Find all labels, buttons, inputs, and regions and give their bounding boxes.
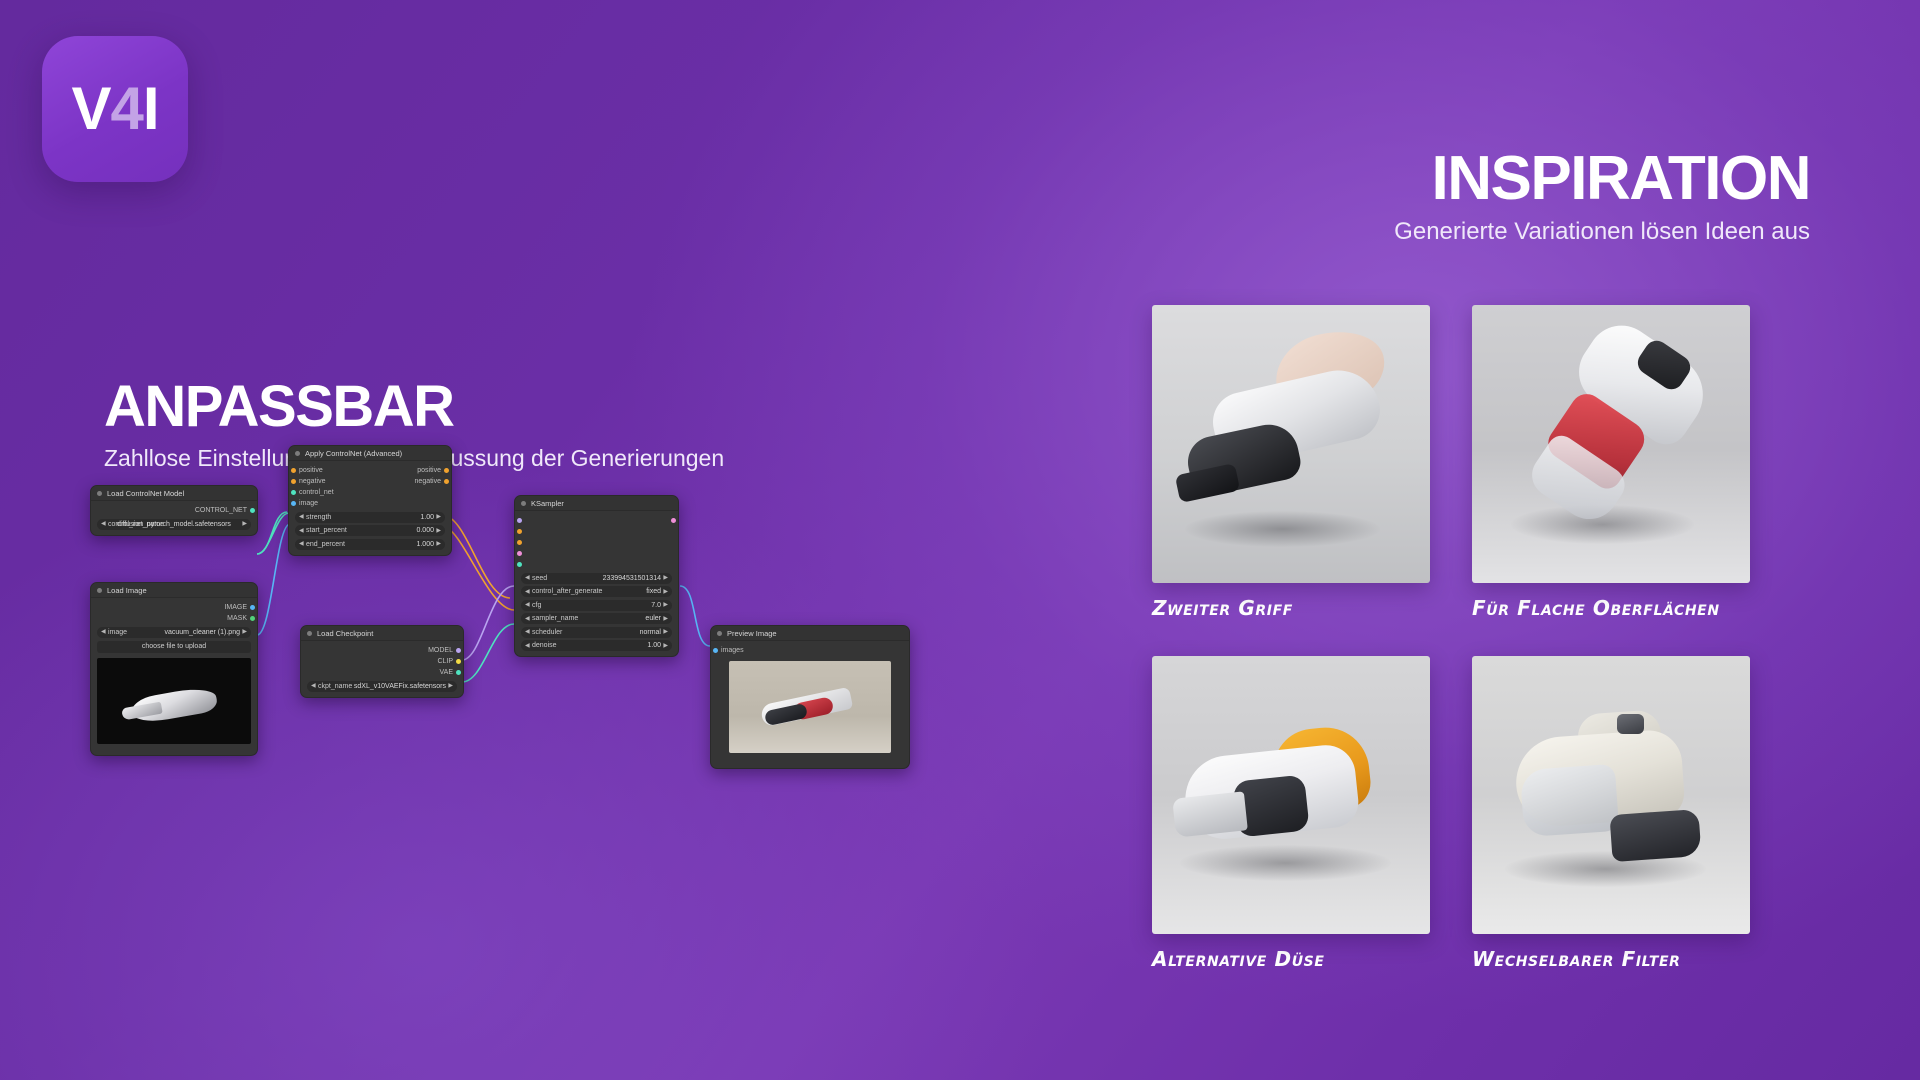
node-body: CONTROL_NET ◀ control_net_name diffusion…: [91, 501, 257, 535]
widget-value: diffusion_pytorch_model.safetensors: [97, 521, 251, 528]
output-port-control-net[interactable]: CONTROL_NET: [91, 505, 257, 516]
decrement-arrow-icon[interactable]: ◀: [311, 683, 316, 689]
port-row-negative[interactable]: negative negative: [289, 476, 451, 487]
increment-arrow-icon[interactable]: ▶: [436, 514, 441, 520]
widget-scheduler[interactable]: ◀ scheduler normal ▶: [521, 627, 672, 638]
node-title-text: Load ControlNet Model: [107, 489, 184, 498]
card-caption: Alternative Düse: [1152, 947, 1430, 971]
decrement-arrow-icon[interactable]: ◀: [525, 616, 530, 622]
widget-cfg[interactable]: ◀ cfg 7.0 ▶: [521, 600, 672, 611]
card-image-zweiter-griff[interactable]: [1152, 305, 1430, 583]
node-body: positive positive negative negative cont…: [289, 461, 451, 555]
collapse-icon[interactable]: [97, 588, 102, 593]
port-dot-icon[interactable]: [291, 468, 296, 473]
port-dot-icon[interactable]: [456, 670, 461, 675]
output-port-model[interactable]: MODEL: [301, 645, 463, 656]
photo-vacuum-knob: [1617, 714, 1645, 733]
widget-label: ckpt_name: [311, 683, 352, 690]
photo-vacuum-filter: [1609, 809, 1701, 862]
port-dot-icon[interactable]: [517, 562, 522, 567]
photo-shadow: [1180, 845, 1391, 881]
widget-end-percent[interactable]: ◀ end_percent 1.000 ▶: [295, 539, 445, 550]
decrement-arrow-icon[interactable]: ◀: [525, 602, 530, 608]
card-caption: Zweiter Griff: [1152, 596, 1430, 620]
choose-file-to-upload-button[interactable]: choose file to upload: [97, 641, 251, 653]
widget-control-net-name[interactable]: ◀ control_net_name diffusion_pytorch_mod…: [97, 519, 251, 530]
node-load-checkpoint[interactable]: Load Checkpoint MODEL CLIP VAE ◀ ckpt_na…: [300, 625, 464, 698]
inspiration-card[interactable]: Wechselbarer Filter: [1472, 656, 1750, 971]
input-port-negative[interactable]: [515, 537, 678, 548]
decrement-arrow-icon[interactable]: ◀: [101, 629, 106, 635]
decrement-arrow-icon[interactable]: ◀: [525, 643, 530, 649]
widget-denoise[interactable]: ◀ denoise 1.00 ▶: [521, 640, 672, 651]
widget-label: control_after_generate: [525, 588, 602, 595]
increment-arrow-icon[interactable]: ▶: [242, 629, 247, 635]
inspiration-subtitle: Generierte Variationen lösen Ideen aus: [1394, 218, 1810, 246]
collapse-icon[interactable]: [295, 451, 300, 456]
node-title-bar[interactable]: Load ControlNet Model: [91, 486, 257, 501]
node-body: ◀ seed 233994531501314 ▶ ◀ control_after…: [515, 511, 678, 656]
input-port-images[interactable]: images: [711, 645, 909, 656]
port-dot-icon[interactable]: [517, 540, 522, 545]
port-dot-icon[interactable]: [517, 551, 522, 556]
collapse-icon[interactable]: [97, 491, 102, 496]
port-dot-icon[interactable]: [456, 648, 461, 653]
port-dot-icon[interactable]: [291, 479, 296, 484]
input-port-image[interactable]: image: [289, 498, 451, 509]
collapse-icon[interactable]: [521, 501, 526, 506]
logo-letter-v: V: [71, 79, 110, 139]
card-caption: Wechselbarer Filter: [1472, 947, 1750, 971]
widget-control-after-generate[interactable]: ◀ control_after_generate fixed ▶: [521, 586, 672, 597]
node-graph[interactable]: Load ControlNet Model CONTROL_NET ◀ cont…: [90, 520, 1090, 940]
port-dot-icon[interactable]: [250, 508, 255, 513]
widget-sampler-name[interactable]: ◀ sampler_name euler ▶: [521, 613, 672, 624]
node-body: IMAGE MASK ◀ image vacuum_cleaner (1).pn…: [91, 598, 257, 755]
output-port-mask[interactable]: MASK: [91, 613, 257, 624]
widget-label: sampler_name: [525, 615, 578, 622]
node-title-bar[interactable]: KSampler: [515, 496, 678, 511]
port-dot-icon[interactable]: [517, 518, 522, 523]
increment-arrow-icon[interactable]: ▶: [448, 683, 453, 689]
photo-shadow: [1185, 511, 1380, 547]
widget-label: end_percent: [299, 541, 345, 548]
card-image-fuer-flache-oberflaechen[interactable]: [1472, 305, 1750, 583]
widget-value: vacuum_cleaner (1).png: [165, 629, 248, 636]
node-title-text: Preview Image: [727, 629, 777, 638]
widget-value: sdXL_v10VAEFix.safetensors: [354, 683, 453, 690]
input-port-control-net[interactable]: control_net: [289, 487, 451, 498]
logo-wordmark: V4I: [71, 79, 158, 139]
photo-vacuum-dustbin: [1520, 764, 1619, 837]
node-title-bar[interactable]: Apply ControlNet (Advanced): [289, 446, 451, 461]
port-dot-icon[interactable]: [291, 501, 296, 506]
node-title-text: KSampler: [531, 499, 564, 508]
inspiration-card-grid: Zweiter Griff Für Flache Oberflächen: [1152, 305, 1792, 971]
card-image-wechselbarer-filter[interactable]: [1472, 656, 1750, 934]
port-row-positive[interactable]: positive positive: [289, 465, 451, 476]
increment-arrow-icon[interactable]: ▶: [663, 589, 668, 595]
collapse-icon[interactable]: [307, 631, 312, 636]
node-preview-image[interactable]: Preview Image images: [710, 625, 910, 769]
node-load-image[interactable]: Load Image IMAGE MASK ◀ image vacuum_cle…: [90, 582, 258, 756]
card-row: Zweiter Griff Für Flache Oberflächen: [1152, 305, 1792, 620]
port-dot-icon[interactable]: [250, 616, 255, 621]
port-dot-icon[interactable]: [671, 518, 676, 523]
node-load-controlnet-model[interactable]: Load ControlNet Model CONTROL_NET ◀ cont…: [90, 485, 258, 536]
port-dot-icon[interactable]: [517, 529, 522, 534]
widget-label: scheduler: [525, 629, 562, 636]
decrement-arrow-icon[interactable]: ◀: [525, 589, 530, 595]
port-dot-icon[interactable]: [444, 479, 449, 484]
increment-arrow-icon[interactable]: ▶: [663, 629, 668, 635]
widget-seed[interactable]: ◀ seed 233994531501314 ▶: [521, 573, 672, 584]
inspiration-card[interactable]: Zweiter Griff: [1152, 305, 1430, 620]
inspiration-card[interactable]: Für Flache Oberflächen: [1472, 305, 1750, 620]
port-dot-icon[interactable]: [291, 490, 296, 495]
increment-arrow-icon[interactable]: ▶: [242, 521, 247, 527]
input-port-latent-image[interactable]: [515, 548, 678, 559]
decrement-arrow-icon[interactable]: ◀: [299, 541, 304, 547]
node-title-bar[interactable]: Preview Image: [711, 626, 909, 641]
input-port-positive[interactable]: [515, 526, 678, 537]
node-body: MODEL CLIP VAE ◀ ckpt_name sdXL_v10VAEFi…: [301, 641, 463, 697]
port-dot-icon[interactable]: [250, 605, 255, 610]
decrement-arrow-icon[interactable]: ◀: [525, 575, 530, 581]
collapse-icon[interactable]: [717, 631, 722, 636]
node-title-text: Apply ControlNet (Advanced): [305, 449, 402, 458]
decrement-arrow-icon[interactable]: ◀: [299, 514, 304, 520]
widget-strength[interactable]: ◀ strength 1.00 ▶: [295, 512, 445, 523]
increment-arrow-icon[interactable]: ▶: [436, 541, 441, 547]
output-port-vae[interactable]: VAE: [301, 667, 463, 678]
card-image-alternative-duese[interactable]: [1152, 656, 1430, 934]
increment-arrow-icon[interactable]: ▶: [663, 643, 668, 649]
logo-letter-4: 4: [110, 79, 142, 139]
port-dot-icon[interactable]: [444, 468, 449, 473]
port-dot-icon[interactable]: [456, 659, 461, 664]
node-title-text: Load Checkpoint: [317, 629, 373, 638]
increment-arrow-icon[interactable]: ▶: [436, 528, 441, 534]
widget-image-name[interactable]: ◀ image vacuum_cleaner (1).png ▶: [97, 627, 251, 638]
increment-arrow-icon[interactable]: ▶: [663, 575, 668, 581]
input-port-vae[interactable]: [515, 559, 678, 570]
app-logo: V4I: [42, 36, 188, 182]
node-title-bar[interactable]: Load Image: [91, 583, 257, 598]
output-port-image[interactable]: IMAGE: [91, 602, 257, 613]
widget-value: 233994531501314: [603, 575, 668, 582]
inspiration-card[interactable]: Alternative Düse: [1152, 656, 1430, 971]
node-title-text: Load Image: [107, 586, 147, 595]
port-dot-icon[interactable]: [713, 648, 718, 653]
increment-arrow-icon[interactable]: ▶: [663, 616, 668, 622]
load-image-preview[interactable]: [97, 658, 251, 744]
decrement-arrow-icon[interactable]: ◀: [299, 528, 304, 534]
inspiration-heading: INSPIRATION Generierte Variationen lösen…: [1394, 148, 1810, 246]
node-title-bar[interactable]: Load Checkpoint: [301, 626, 463, 641]
node-body: images: [711, 641, 909, 768]
inspiration-title: INSPIRATION: [1394, 148, 1810, 210]
node-ksampler[interactable]: KSampler ◀ seed 233994531501314: [514, 495, 679, 657]
input-port-model[interactable]: [515, 515, 678, 526]
widget-start-percent[interactable]: ◀ start_percent 0.000 ▶: [295, 525, 445, 536]
node-apply-controlnet-advanced[interactable]: Apply ControlNet (Advanced) positive pos…: [288, 445, 452, 556]
card-caption: Für Flache Oberflächen: [1472, 596, 1750, 620]
preview-image-result[interactable]: [729, 661, 891, 753]
port-label: CONTROL_NET: [195, 507, 257, 514]
widget-ckpt-name[interactable]: ◀ ckpt_name sdXL_v10VAEFix.safetensors ▶: [307, 681, 457, 692]
output-port-clip[interactable]: CLIP: [301, 656, 463, 667]
card-row: Alternative Düse Wechselbarer Filter: [1152, 656, 1792, 971]
decrement-arrow-icon[interactable]: ◀: [525, 629, 530, 635]
widget-label: start_percent: [299, 527, 347, 534]
logo-letter-i: I: [143, 79, 159, 139]
increment-arrow-icon[interactable]: ▶: [663, 602, 668, 608]
customizable-title: ANPASSBAR: [104, 378, 724, 436]
photo-vacuum-nozzle: [1172, 791, 1248, 837]
